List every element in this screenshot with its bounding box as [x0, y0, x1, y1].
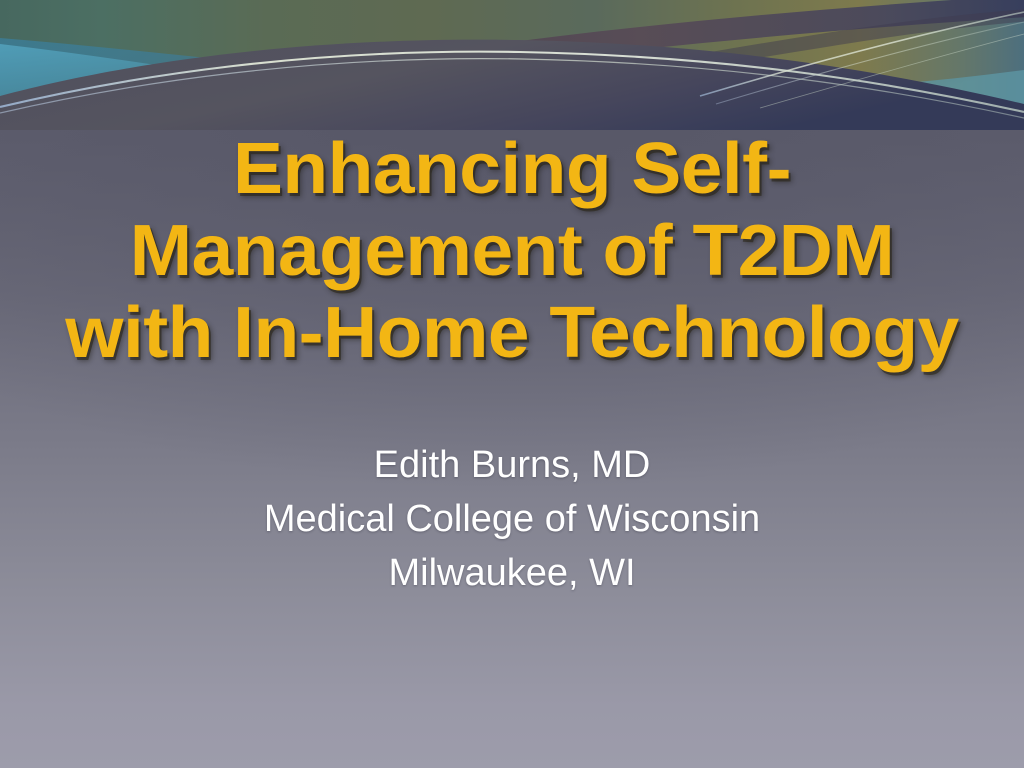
header-wave-decoration: [0, 0, 1024, 130]
title-line-1: Enhancing Self-: [0, 128, 1024, 210]
slide-title: Enhancing Self- Management of T2DM with …: [0, 128, 1024, 374]
slide-subtitle: Edith Burns, MD Medical College of Wisco…: [0, 438, 1024, 600]
presentation-slide: Enhancing Self- Management of T2DM with …: [0, 0, 1024, 768]
title-line-3: with In-Home Technology: [0, 292, 1024, 374]
subtitle-location: Milwaukee, WI: [0, 546, 1024, 600]
subtitle-institution: Medical College of Wisconsin: [0, 492, 1024, 546]
title-line-2: Management of T2DM: [0, 210, 1024, 292]
subtitle-author: Edith Burns, MD: [0, 438, 1024, 492]
